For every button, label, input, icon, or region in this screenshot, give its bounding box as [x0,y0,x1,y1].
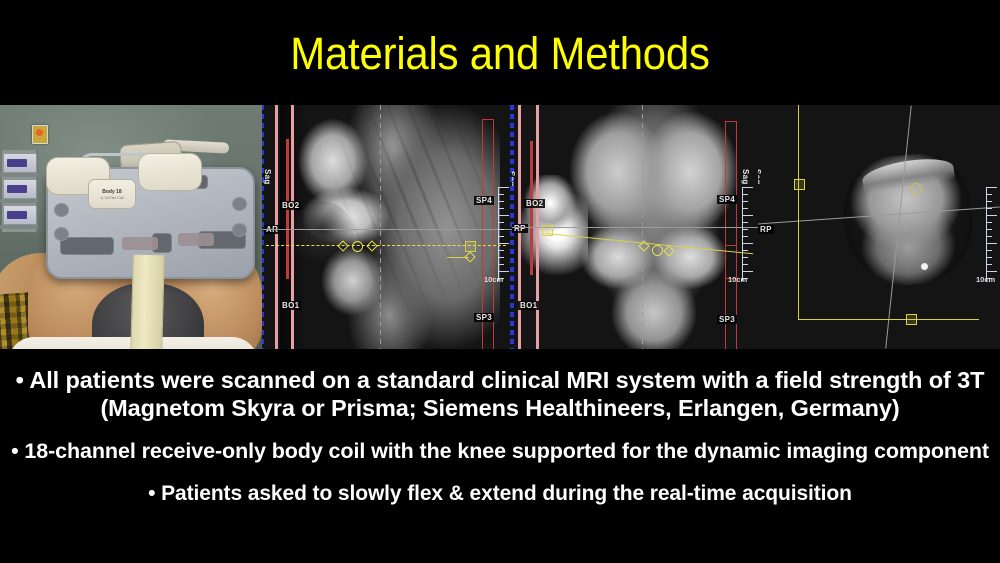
rack-shelf [0,225,38,229]
bullet-marker: • [148,482,155,505]
bullet-marker: • [16,367,24,393]
mri-label-bo1: BO1 [280,301,301,310]
crosshair-vertical [642,105,643,349]
mri-label-bo2: BO2 [524,199,545,208]
bullet-text: All patients were scanned on a standard … [29,367,984,421]
mri-label-sp3: SP3 [474,313,494,322]
mri-label-sag: Sag [758,167,762,187]
rack-shelf [0,173,38,177]
mri-coronal-localizer: Sag BO2 BO1 RP SP4 SP3 Sag 10cm [512,105,758,349]
sat-band [482,245,494,349]
figure-band: Body 18 IL 18 Flex Coil Sag BO2 BO1 [0,105,1000,349]
scale-ruler [498,187,511,281]
slice-center-marker[interactable] [352,241,363,252]
mri-label-sag-right: Sag [741,167,750,187]
slice-rotate-handle[interactable] [542,225,553,236]
fov-box[interactable] [798,105,979,320]
mri-label-sp3: SP3 [717,315,737,324]
supply-box [3,205,37,225]
coil-pad-strip [122,237,158,250]
rack-shelf [0,199,38,203]
mri-label-bo1: BO1 [518,301,539,310]
supply-box [3,179,37,199]
mri-label-orientation: RP [512,224,528,233]
coronal-bright-artifact [518,175,588,275]
mri-label-sp4: SP4 [474,196,494,205]
mri-label-orientation: RP [758,225,774,234]
mri-label-sag: Sag [512,169,516,189]
bullet-text: 18-channel receive-only body coil with t… [24,439,989,463]
scale-ruler [986,187,999,281]
coil-button-icon [54,227,69,241]
wall-alarm-icon [32,125,48,144]
slice-rotate-handle[interactable] [465,241,476,252]
slice-center-marker[interactable] [652,245,663,256]
positioning-strap [129,255,165,349]
scale-ruler [742,187,755,281]
coil-button-icon [232,223,247,237]
bullet-text: Patients asked to slowly flex & extend d… [161,482,852,505]
coil-button-icon [54,203,69,217]
slice-center-marker[interactable] [910,183,922,195]
mri-label-bo2: BO2 [280,201,301,210]
sat-band [291,105,294,349]
page-title: Materials and Methods [35,28,965,80]
supply-box [3,153,37,173]
crosshair-horizontal [262,229,512,230]
coil-slot [60,237,114,255]
bullet-item: • All patients were scanned on a standar… [0,366,1000,422]
crosshair-vertical [380,105,381,349]
coil-pad-strip [178,233,214,246]
mri-label-sag: Sag [263,167,272,187]
coil-cushion-right [138,153,202,191]
bullet-marker: • [11,439,18,463]
sat-band [530,141,533,275]
sagittal-joint-space [290,201,354,267]
coil-button-icon [232,197,247,211]
slide-canvas: Materials and Methods [0,0,1000,563]
mri-axial-localizer: Sag RP 10cm [758,105,1000,349]
fov-handle[interactable] [906,314,917,325]
coil-model-name: Body 18 [102,189,121,195]
coil-photograph: Body 18 IL 18 Flex Coil [0,105,262,349]
bullet-item: • Patients asked to slowly flex & extend… [0,480,1000,508]
coil-model-sub: IL 18 Flex Coil [101,196,124,200]
body-content: • All patients were scanned on a standar… [0,358,1000,508]
sat-band [725,245,737,349]
fov-handle[interactable] [794,179,805,190]
mri-sagittal-localizer: Sag BO2 BO1 AR SP4 SP3 10cm [262,105,512,349]
bullet-item: • 18-channel receive-only body coil with… [0,437,1000,465]
mri-label-sp4: SP4 [717,195,737,204]
coil-model-badge: Body 18 IL 18 Flex Coil [88,179,136,209]
